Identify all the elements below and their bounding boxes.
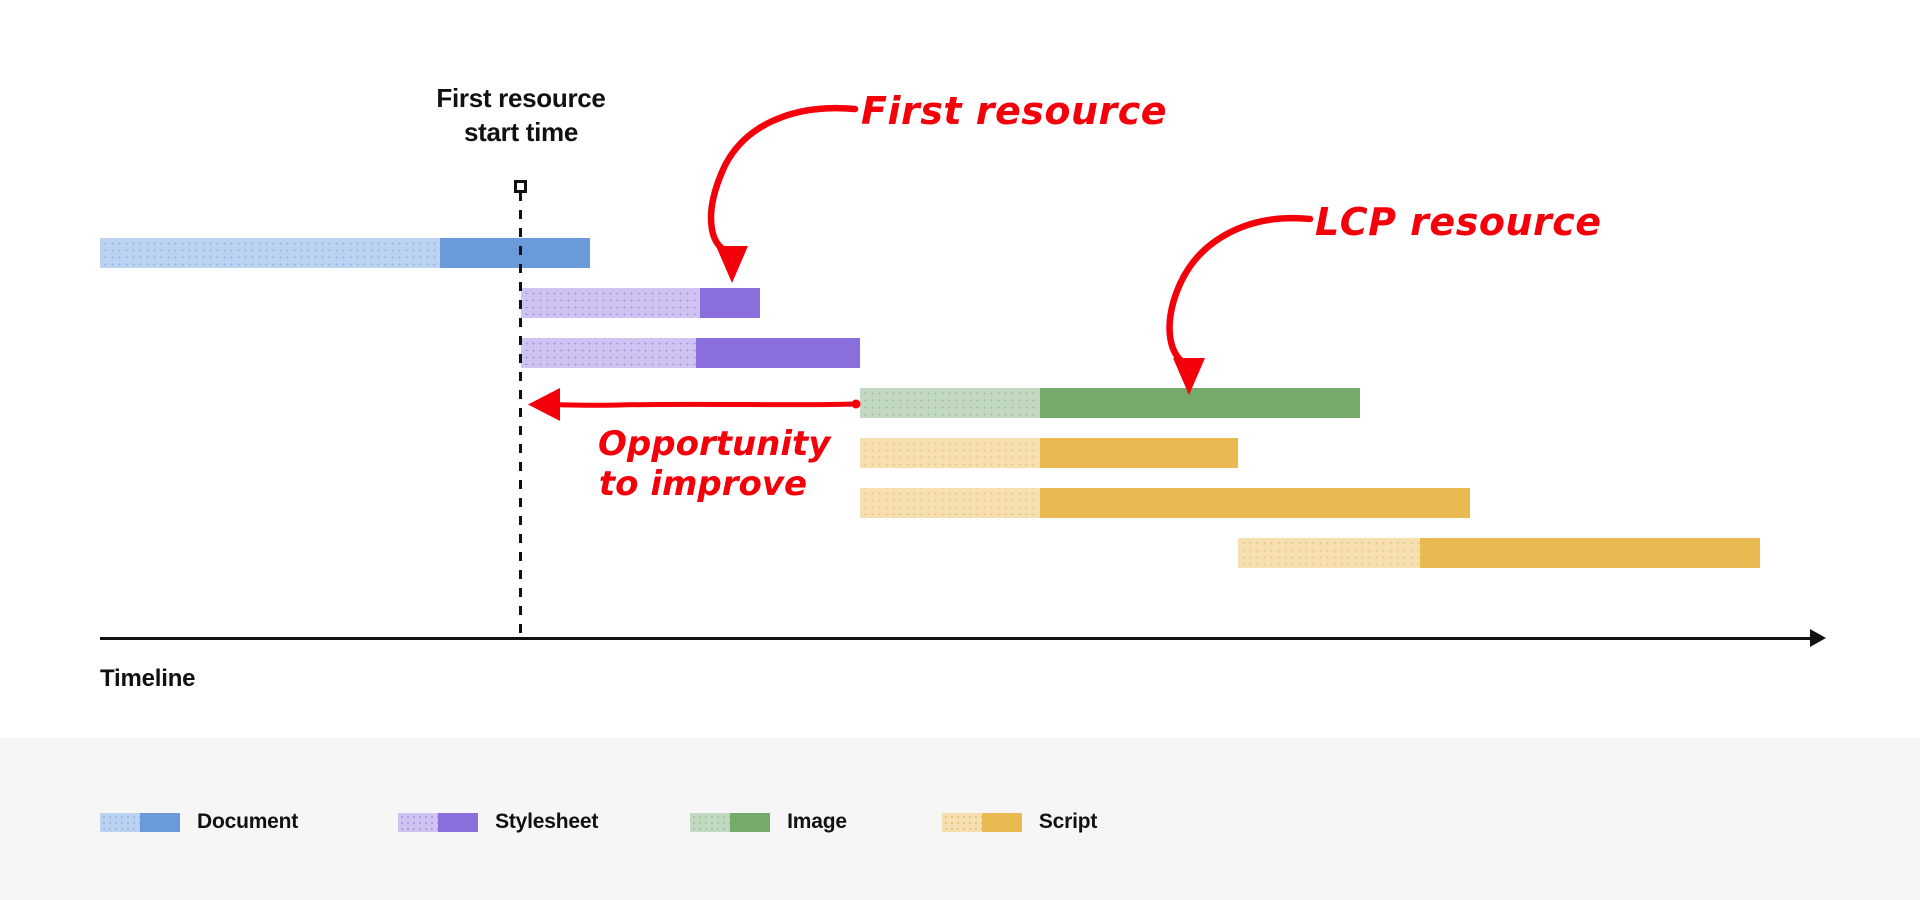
- bar-segment-wait: [860, 438, 1040, 468]
- bar-segment-download: [1040, 488, 1470, 518]
- bar-script-1: [860, 438, 1238, 468]
- first-resource-marker-line: [519, 192, 522, 640]
- swatch-wait-segment: [398, 813, 438, 832]
- bar-segment-wait: [860, 388, 1040, 418]
- legend-swatch-image: [690, 813, 770, 832]
- lcp-resource-arrow-icon: [1170, 218, 1310, 395]
- chart-plot-area: First resource start time Timeline: [0, 0, 1920, 738]
- bar-segment-download: [1040, 438, 1238, 468]
- annotation-lcp-resource: LCP resource: [1315, 200, 1602, 244]
- annotation-first-resource: First resource: [861, 89, 1167, 133]
- bar-segment-download: [696, 338, 860, 368]
- legend-panel: Document Stylesheet Image: [0, 738, 1920, 900]
- swatch-wait-segment: [100, 813, 140, 832]
- bar-segment-wait: [521, 338, 696, 368]
- legend-item-image: Image: [690, 810, 847, 834]
- bar-segment-wait: [521, 288, 700, 318]
- marker-caption-line-1: First resource: [371, 82, 671, 116]
- bar-segment-download: [440, 238, 590, 268]
- timeline-axis-line: [100, 637, 1812, 640]
- legend-swatch-stylesheet: [398, 813, 478, 832]
- bar-segment-download: [1420, 538, 1760, 568]
- first-resource-start-time-label: First resource start time: [371, 82, 671, 150]
- bar-segment-wait: [1238, 538, 1420, 568]
- first-resource-marker-handle: [514, 180, 527, 193]
- swatch-download-segment: [730, 813, 770, 832]
- swatch-wait-segment: [690, 813, 730, 832]
- legend: Document Stylesheet Image: [100, 810, 1097, 834]
- legend-label-image: Image: [787, 810, 847, 834]
- swatch-download-segment: [982, 813, 1022, 832]
- bar-image-lcp: [860, 388, 1360, 418]
- bar-segment-wait: [860, 488, 1040, 518]
- bar-script-2: [860, 488, 1470, 518]
- timeline-axis-arrow-icon: [1810, 629, 1826, 647]
- bar-stylesheet-2: [521, 338, 860, 368]
- legend-swatch-script: [942, 813, 1022, 832]
- first-resource-arrow-icon: [711, 108, 855, 283]
- annotation-opportunity-line-1: Opportunity: [598, 424, 808, 464]
- marker-caption-line-2: start time: [371, 116, 671, 150]
- legend-item-stylesheet: Stylesheet: [398, 810, 598, 834]
- legend-item-document: Document: [100, 810, 298, 834]
- bar-script-3: [1238, 538, 1760, 568]
- legend-label-stylesheet: Stylesheet: [495, 810, 598, 834]
- opportunity-arrow-icon: [528, 388, 861, 421]
- swatch-wait-segment: [942, 813, 982, 832]
- legend-item-script: Script: [942, 810, 1097, 834]
- diagram-canvas: First resource start time Timeline: [0, 0, 1920, 900]
- timeline-axis-label: Timeline: [100, 665, 195, 693]
- legend-label-script: Script: [1039, 810, 1097, 834]
- bar-segment-wait: [100, 238, 440, 268]
- legend-swatch-document: [100, 813, 180, 832]
- bar-document: [100, 238, 590, 268]
- annotation-opportunity-line-2: to improve: [598, 464, 808, 504]
- legend-label-document: Document: [197, 810, 298, 834]
- swatch-download-segment: [140, 813, 180, 832]
- bar-segment-download: [700, 288, 760, 318]
- swatch-download-segment: [438, 813, 478, 832]
- bar-stylesheet-1: [521, 288, 760, 318]
- bar-segment-download: [1040, 388, 1360, 418]
- annotation-opportunity-to-improve: Opportunity to improve: [598, 424, 808, 504]
